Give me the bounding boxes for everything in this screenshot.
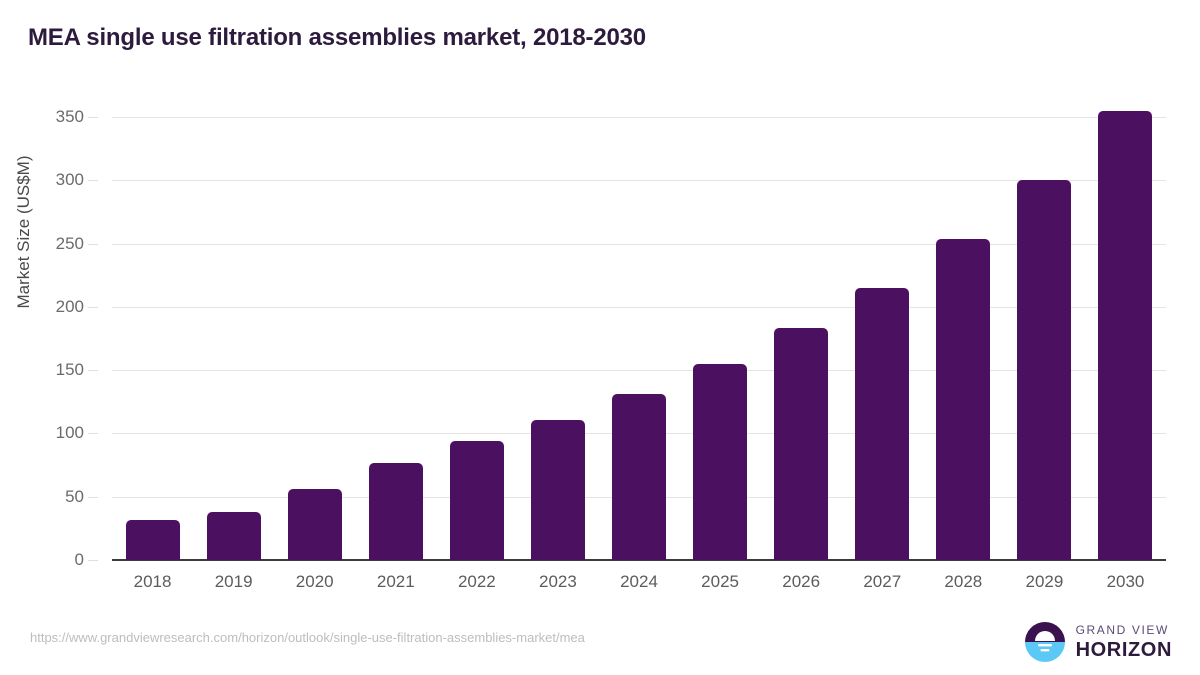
bar-2019[interactable] bbox=[207, 512, 261, 560]
bar-2018[interactable] bbox=[126, 520, 180, 561]
bar-2025[interactable] bbox=[693, 364, 747, 560]
y-axis-tick-label: 200 bbox=[56, 297, 84, 317]
brand-name-bottom: HORIZON bbox=[1076, 640, 1172, 660]
bar-2023[interactable] bbox=[531, 420, 585, 560]
y-axis-tick-mark bbox=[88, 180, 98, 181]
y-axis-tick-mark bbox=[88, 497, 98, 498]
bar-slot bbox=[761, 117, 842, 560]
horizon-sun-circle-icon bbox=[1023, 620, 1067, 664]
bar-slot bbox=[274, 117, 355, 560]
y-axis-tick-label: 0 bbox=[75, 550, 84, 570]
y-axis-tick-mark bbox=[88, 307, 98, 308]
y-axis-tick-label: 150 bbox=[56, 360, 84, 380]
y-axis-tick-label: 50 bbox=[65, 487, 84, 507]
brand-logo[interactable]: GRAND VIEW HORIZON bbox=[1023, 620, 1172, 664]
x-axis-tick-label: 2019 bbox=[193, 572, 274, 592]
y-axis-tick-mark bbox=[88, 244, 98, 245]
bar-slot bbox=[598, 117, 679, 560]
x-axis-ticks: 2018201920202021202220232024202520262027… bbox=[112, 572, 1166, 592]
brand-logo-text: GRAND VIEW HORIZON bbox=[1076, 624, 1172, 660]
x-axis-tick-label: 2024 bbox=[598, 572, 679, 592]
bar-slot bbox=[112, 117, 193, 560]
x-axis-tick-label: 2029 bbox=[1004, 572, 1085, 592]
y-axis-tick-label: 350 bbox=[56, 107, 84, 127]
bar-slot bbox=[436, 117, 517, 560]
bar-2026[interactable] bbox=[774, 328, 828, 560]
x-axis-tick-label: 2030 bbox=[1085, 572, 1166, 592]
bar-slot bbox=[1004, 117, 1085, 560]
chart-screenshot: MEA single use filtration assemblies mar… bbox=[0, 0, 1200, 675]
bar-2027[interactable] bbox=[855, 288, 909, 560]
x-axis-tick-label: 2023 bbox=[517, 572, 598, 592]
bar-slot bbox=[923, 117, 1004, 560]
bar-2028[interactable] bbox=[936, 239, 990, 560]
y-axis-tick-mark bbox=[88, 560, 98, 561]
bar-series bbox=[112, 117, 1166, 560]
bar-slot bbox=[355, 117, 436, 560]
x-axis-tick-label: 2022 bbox=[436, 572, 517, 592]
brand-name-top: GRAND VIEW bbox=[1076, 624, 1172, 636]
x-axis-tick-label: 2027 bbox=[842, 572, 923, 592]
bar-slot bbox=[1085, 117, 1166, 560]
x-axis-tick-label: 2026 bbox=[761, 572, 842, 592]
bar-slot bbox=[842, 117, 923, 560]
source-url[interactable]: https://www.grandviewresearch.com/horizo… bbox=[30, 630, 585, 645]
bar-2024[interactable] bbox=[612, 394, 666, 560]
bar-slot bbox=[680, 117, 761, 560]
x-axis-tick-label: 2028 bbox=[923, 572, 1004, 592]
y-axis-tick-label: 250 bbox=[56, 234, 84, 254]
y-axis-tick-mark bbox=[88, 433, 98, 434]
bar-slot bbox=[517, 117, 598, 560]
y-axis-title: Market Size (US$M) bbox=[14, 22, 34, 442]
x-axis-tick-label: 2018 bbox=[112, 572, 193, 592]
bar-2030[interactable] bbox=[1098, 111, 1152, 560]
bar-2029[interactable] bbox=[1017, 180, 1071, 560]
y-axis-tick-label: 300 bbox=[56, 170, 84, 190]
y-axis-tick-mark bbox=[88, 370, 98, 371]
page-title: MEA single use filtration assemblies mar… bbox=[28, 24, 646, 52]
bar-2020[interactable] bbox=[288, 489, 342, 560]
bar-2021[interactable] bbox=[369, 463, 423, 560]
x-axis-tick-label: 2025 bbox=[680, 572, 761, 592]
x-axis-tick-label: 2021 bbox=[355, 572, 436, 592]
y-axis-tick-label: 100 bbox=[56, 423, 84, 443]
y-axis-tick-mark bbox=[88, 117, 98, 118]
bar-2022[interactable] bbox=[450, 441, 504, 560]
x-axis-tick-label: 2020 bbox=[274, 572, 355, 592]
bar-slot bbox=[193, 117, 274, 560]
